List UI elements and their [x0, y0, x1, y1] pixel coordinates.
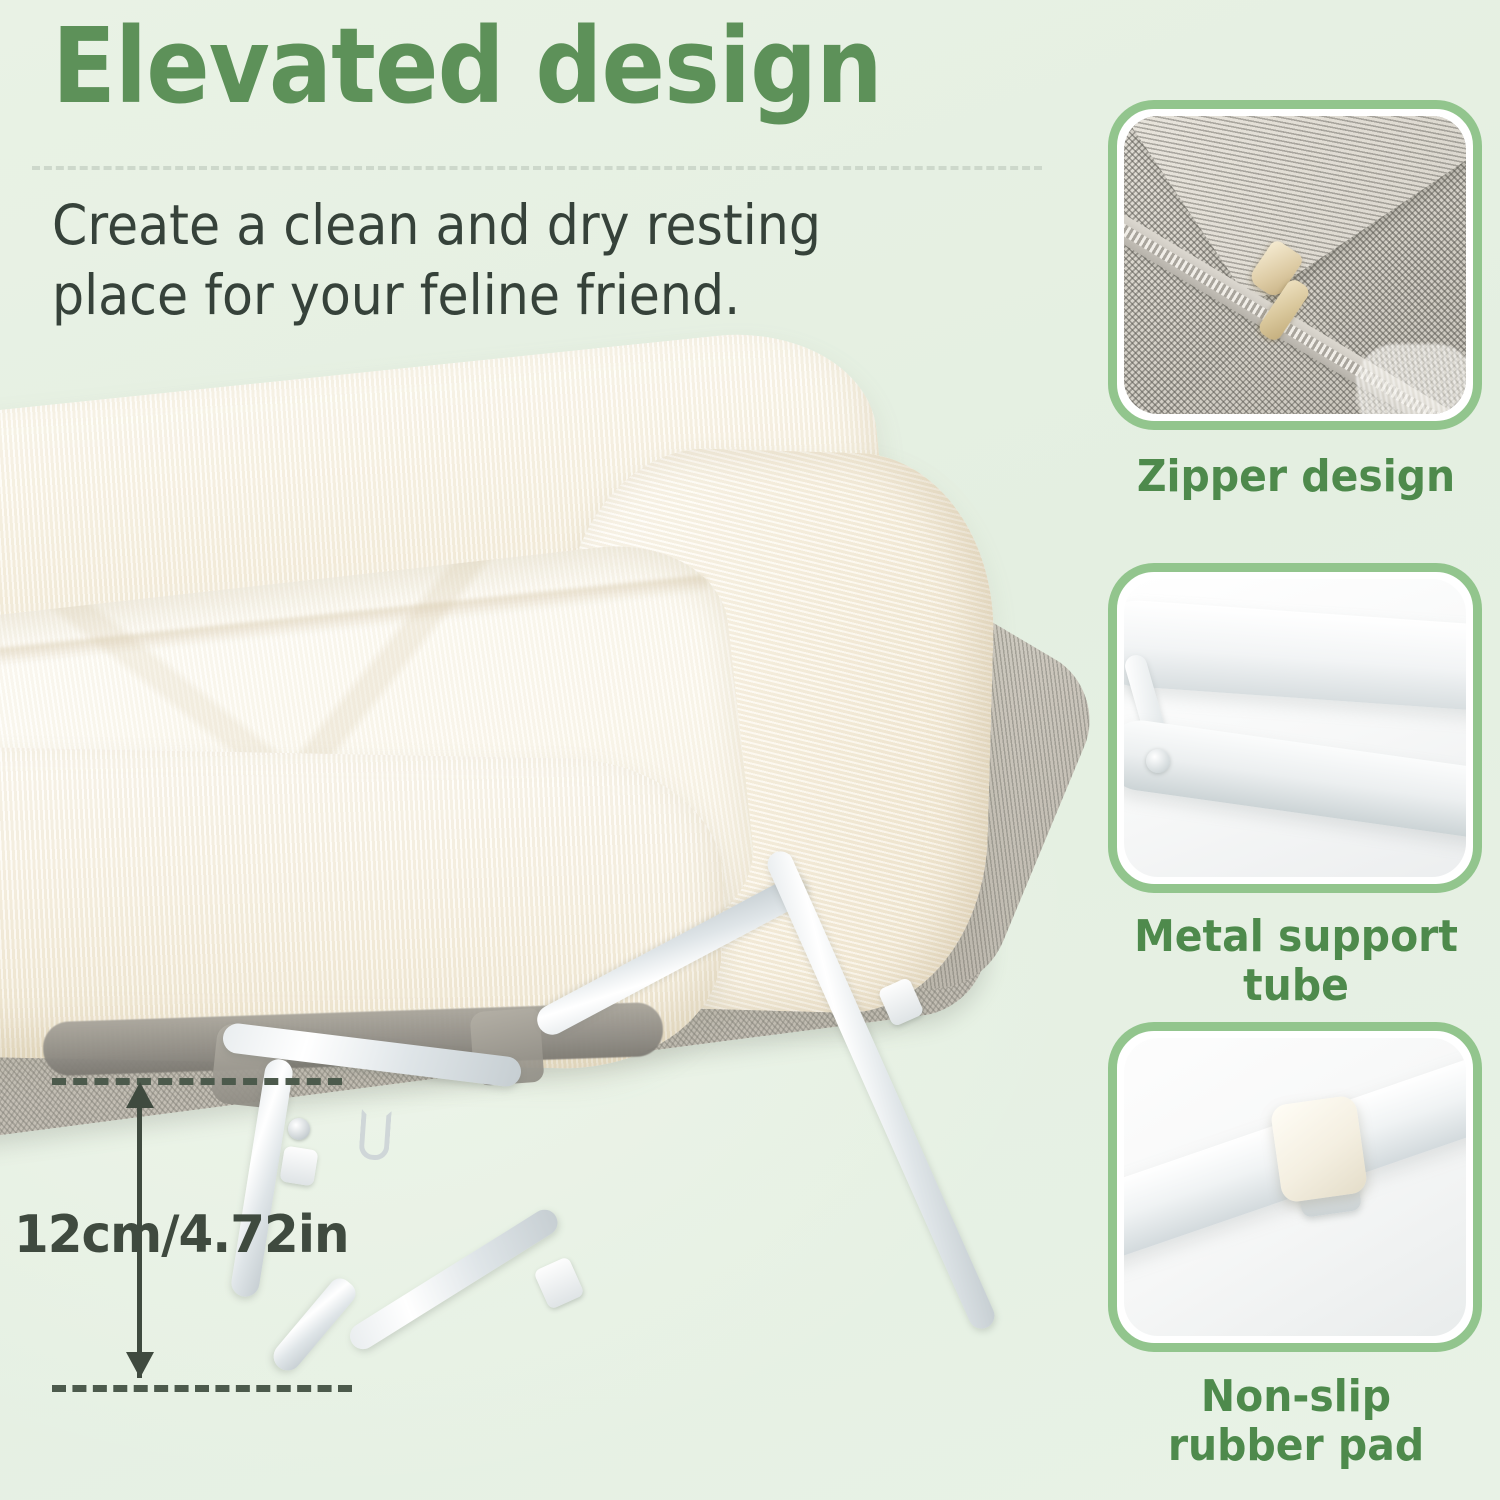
hinge-upper [279, 1146, 318, 1187]
feature-image-metal-tube [1124, 579, 1466, 877]
page-subtitle: Create a clean and dry resting place for… [52, 190, 935, 331]
product-photo [0, 355, 1090, 1495]
feature-panel-rubber-pad[interactable] [1108, 1022, 1482, 1352]
feature-image-zipper [1124, 116, 1466, 414]
feature-image-rubber-pad [1124, 1038, 1466, 1336]
frame-clip [358, 1109, 391, 1161]
header: Elevated design Create a clean and dry r… [52, 8, 1032, 124]
rubber-pad-icon [1270, 1094, 1369, 1203]
fur-edge-peek [1356, 344, 1466, 414]
leg-knob [288, 1118, 310, 1140]
page-title: Elevated design [52, 8, 934, 124]
tube-joint-knob [1146, 749, 1170, 773]
feature-panel-metal-tube[interactable] [1108, 563, 1482, 893]
feature-panel-zipper[interactable] [1108, 100, 1482, 430]
feature-label-zipper: Zipper design [1101, 452, 1492, 501]
feature-label-rubber-pad-line2: rubber pad [1101, 1421, 1492, 1470]
feature-label-metal-tube: Metal support tube [1101, 912, 1492, 1011]
infographic-page: Elevated design Create a clean and dry r… [0, 0, 1500, 1500]
feature-label-rubber-pad: Non-slip rubber pad [1101, 1372, 1492, 1471]
feature-label-rubber-pad-line1: Non-slip [1101, 1372, 1492, 1421]
header-divider [32, 166, 1042, 170]
